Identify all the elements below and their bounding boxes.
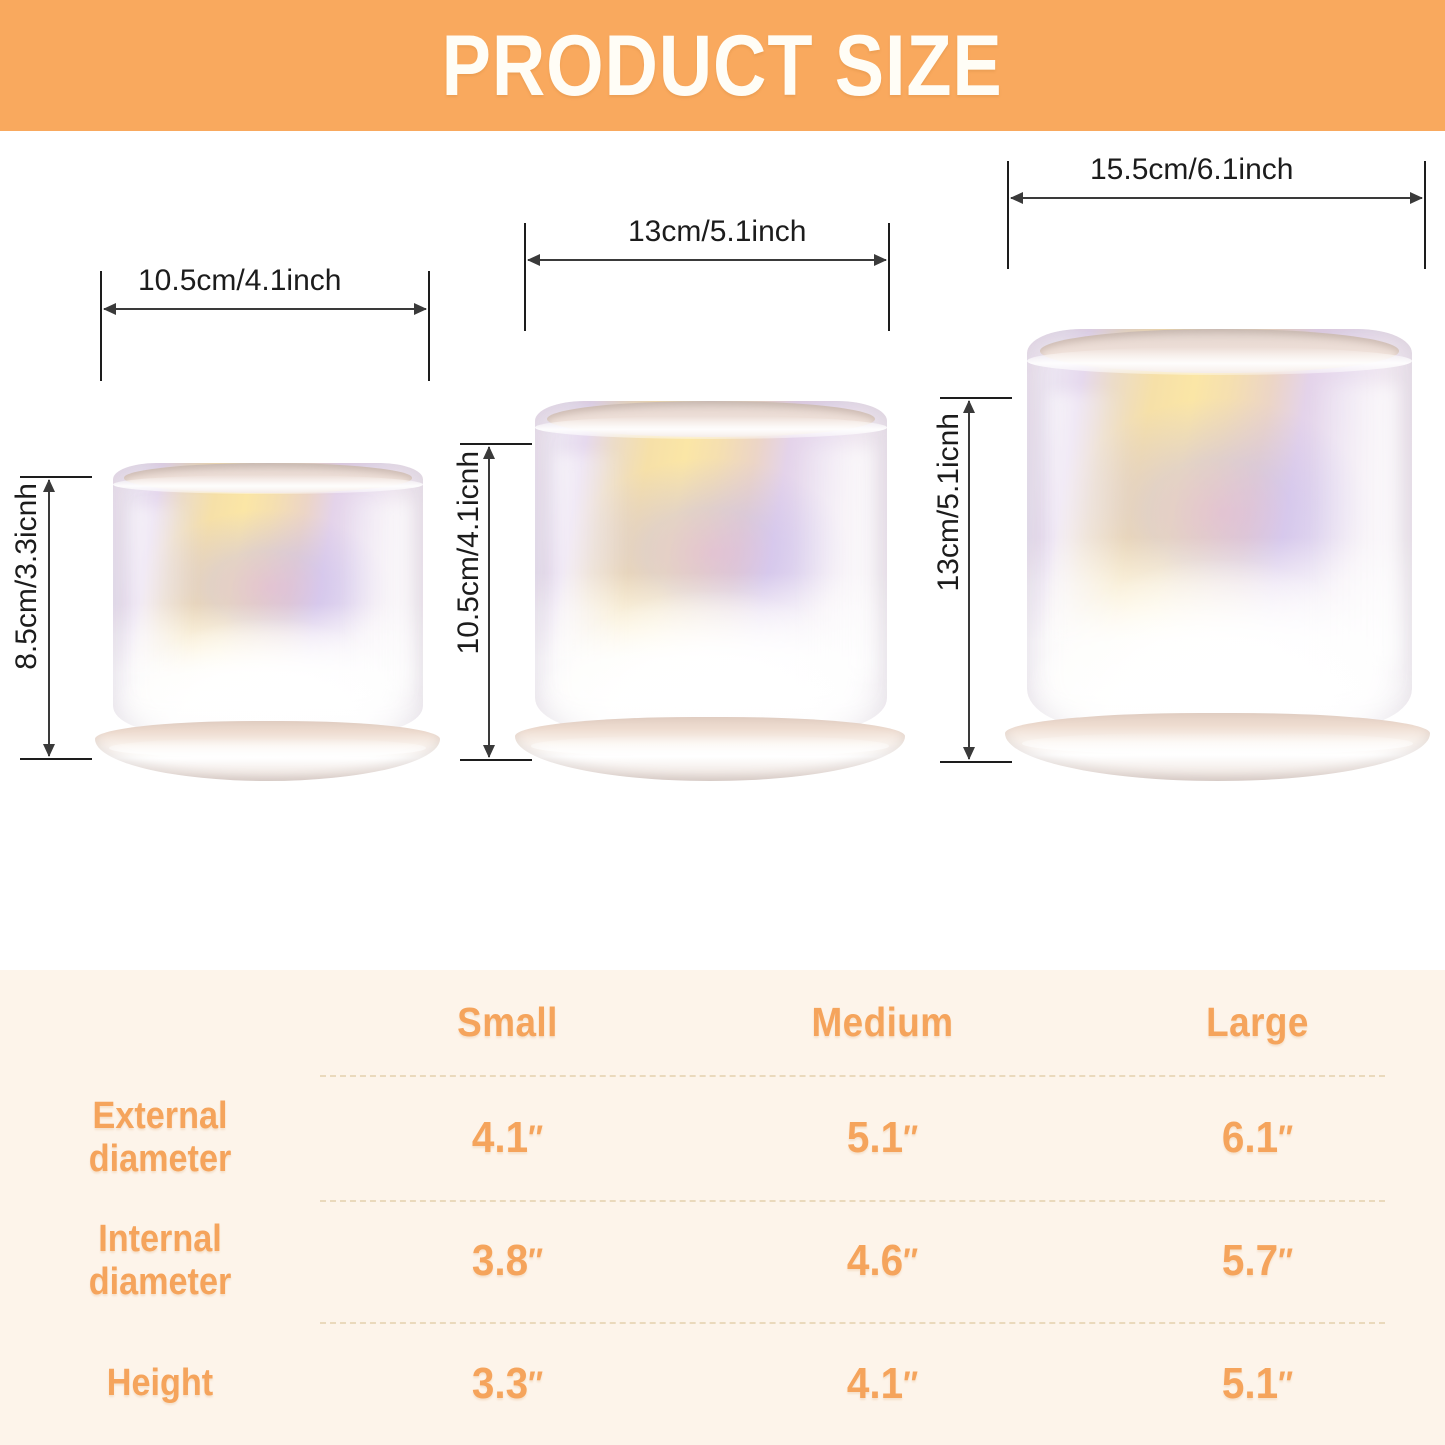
ext-line-small-width-left — [100, 271, 102, 381]
dim-arrow-small-width — [104, 308, 426, 310]
ext-line-medium-height-top — [460, 443, 532, 445]
row-label-line2: diameter — [89, 1261, 232, 1304]
ext-line-medium-width-right — [888, 223, 890, 331]
product-small — [95, 381, 440, 781]
table-column-header-small: Small — [339, 970, 677, 1075]
dim-arrow-medium-height — [488, 447, 490, 757]
dim-arrow-large-height — [968, 401, 970, 759]
pot-rim-lip-medium — [535, 416, 887, 439]
spec-table: Small Medium Large External diameter 4.1… — [0, 970, 1445, 1445]
cell-number: 3.3 — [472, 1359, 528, 1409]
dim-label-medium-width: 13cm/5.1inch — [628, 215, 806, 249]
pot-saucer-small — [95, 721, 440, 781]
dim-label-small-width: 10.5cm/4.1inch — [138, 264, 341, 298]
cell-number: 5.1 — [847, 1113, 903, 1163]
table-row-label-external-diameter: External diameter — [16, 1075, 304, 1200]
product-image-stage: 10.5cm/4.1inch 8.5cm/3.3icnh 13cm/5.1inc… — [0, 131, 1445, 970]
pot-white-wave-small — [113, 620, 423, 733]
table-row-label-internal-diameter: Internal diameter — [16, 1200, 304, 1322]
dim-label-large-width: 15.5cm/6.1inch — [1090, 153, 1293, 187]
table-cell-external-large: 6.1″ — [1085, 1075, 1430, 1200]
product-medium — [515, 319, 905, 781]
ext-line-medium-height-bottom — [460, 759, 532, 761]
row-label-line1: Height — [107, 1362, 213, 1405]
table-cell-internal-large: 5.7″ — [1085, 1200, 1430, 1322]
table-cell-internal-small: 3.8″ — [335, 1200, 680, 1322]
cell-number: 4.6 — [847, 1236, 903, 1286]
spec-table-grid: Small Medium Large External diameter 4.1… — [0, 970, 1445, 1445]
table-cell-external-medium: 5.1″ — [710, 1075, 1055, 1200]
table-corner-cell — [0, 970, 320, 1075]
table-cell-height-large: 5.1″ — [1085, 1322, 1430, 1445]
page-header-band: PRODUCT SIZE — [0, 0, 1445, 131]
pot-saucer-medium — [515, 717, 905, 781]
page-title: PRODUCT SIZE — [442, 23, 1003, 109]
ext-line-medium-width-left — [524, 223, 526, 331]
table-column-header-large: Large — [1089, 970, 1427, 1075]
product-large — [1005, 243, 1430, 781]
ext-line-large-height-top — [940, 397, 1012, 399]
cell-number: 4.1 — [847, 1359, 903, 1409]
ext-line-small-height-bottom — [20, 758, 92, 760]
table-row-label-height: Height — [16, 1322, 304, 1445]
ext-line-large-width-left — [1007, 161, 1009, 269]
row-label-line1: External — [93, 1095, 228, 1138]
dim-label-large-height: 13cm/5.1icnh — [932, 413, 966, 591]
pot-body-small — [113, 463, 423, 733]
pot-body-large — [1027, 329, 1412, 729]
pot-saucer-edge-medium — [531, 735, 890, 757]
row-label-line1: Internal — [98, 1218, 222, 1261]
dim-arrow-large-width — [1011, 197, 1422, 199]
pot-saucer-edge-large — [1022, 732, 1413, 755]
pot-rim-lip-large — [1027, 347, 1412, 375]
table-cell-height-medium: 4.1″ — [710, 1322, 1055, 1445]
pot-saucer-edge-small — [109, 738, 426, 758]
row-label-line2: diameter — [89, 1138, 232, 1181]
pot-saucer-large — [1005, 713, 1430, 781]
pot-rim-lip-small — [113, 475, 423, 494]
pot-white-wave-large — [1027, 561, 1412, 729]
pot-white-wave-medium — [535, 592, 887, 731]
dim-arrow-medium-width — [528, 259, 886, 261]
ext-line-small-width-right — [428, 271, 430, 381]
pot-body-medium — [535, 401, 887, 731]
table-column-header-medium: Medium — [714, 970, 1052, 1075]
cell-number: 5.1 — [1222, 1359, 1278, 1409]
table-cell-height-small: 3.3″ — [335, 1322, 680, 1445]
dim-label-small-height: 8.5cm/3.3icnh — [10, 483, 44, 670]
cell-number: 6.1 — [1222, 1113, 1278, 1163]
cell-number: 3.8 — [472, 1236, 528, 1286]
cell-number: 4.1 — [472, 1113, 528, 1163]
dim-label-medium-height: 10.5cm/4.1icnh — [452, 451, 486, 654]
ext-line-small-height-top — [20, 476, 92, 478]
cell-number: 5.7 — [1222, 1236, 1278, 1286]
table-cell-internal-medium: 4.6″ — [710, 1200, 1055, 1322]
ext-line-large-height-bottom — [940, 761, 1012, 763]
dim-arrow-small-height — [48, 480, 50, 756]
table-cell-external-small: 4.1″ — [335, 1075, 680, 1200]
ext-line-large-width-right — [1424, 161, 1426, 269]
